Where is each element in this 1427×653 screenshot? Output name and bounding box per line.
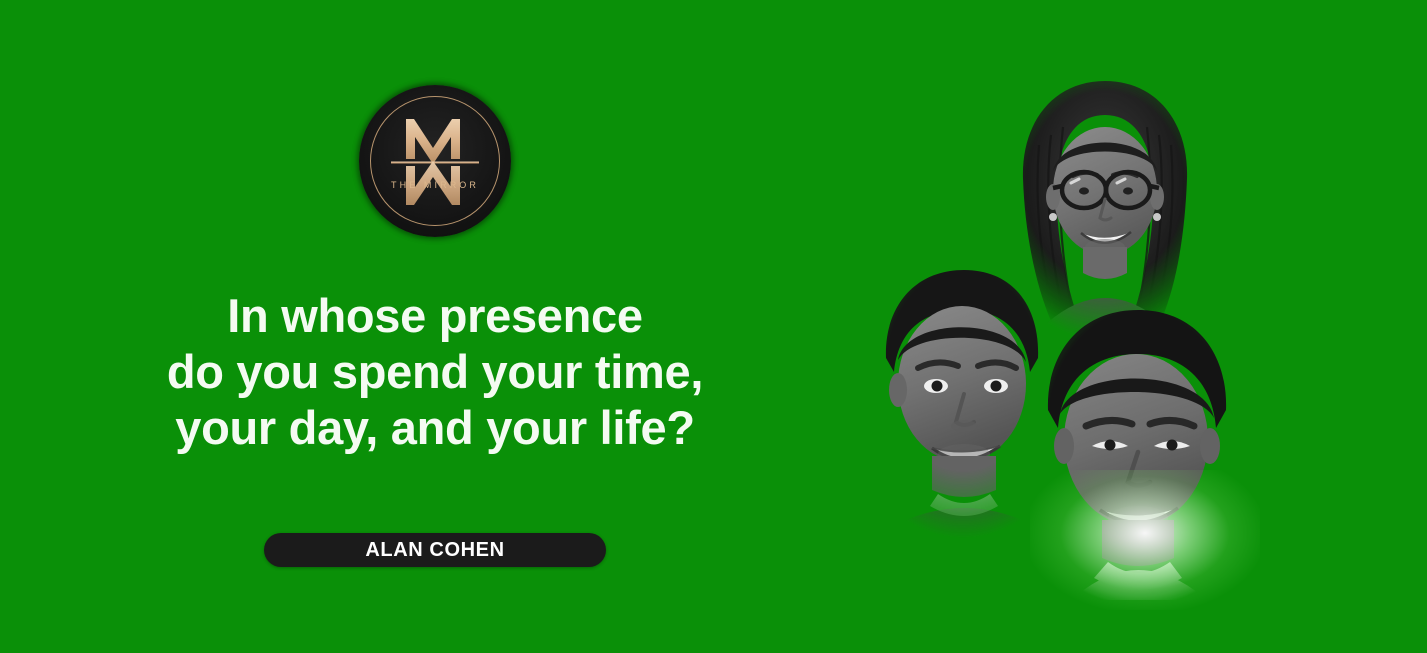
quote-line-1: In whose presence xyxy=(0,288,870,344)
quote-line-3: your day, and your life? xyxy=(0,400,870,456)
author-name: ALAN COHEN xyxy=(365,539,504,562)
portrait-bottom-right xyxy=(1020,300,1260,600)
quote-text: In whose presence do you spend your time… xyxy=(0,288,870,456)
brand-logo: THE MIRROR xyxy=(359,85,511,237)
quote-line-2: do you spend your time, xyxy=(0,344,870,400)
content-column: THE MIRROR In whose presence do you spen… xyxy=(0,0,870,653)
logo-subtitle: THE MIRROR xyxy=(359,180,511,190)
mirror-monogram-icon xyxy=(359,85,511,237)
portrait-collage xyxy=(845,0,1427,653)
author-badge: ALAN COHEN xyxy=(264,533,606,567)
quote-poster: THE MIRROR In whose presence do you spen… xyxy=(0,0,1427,653)
